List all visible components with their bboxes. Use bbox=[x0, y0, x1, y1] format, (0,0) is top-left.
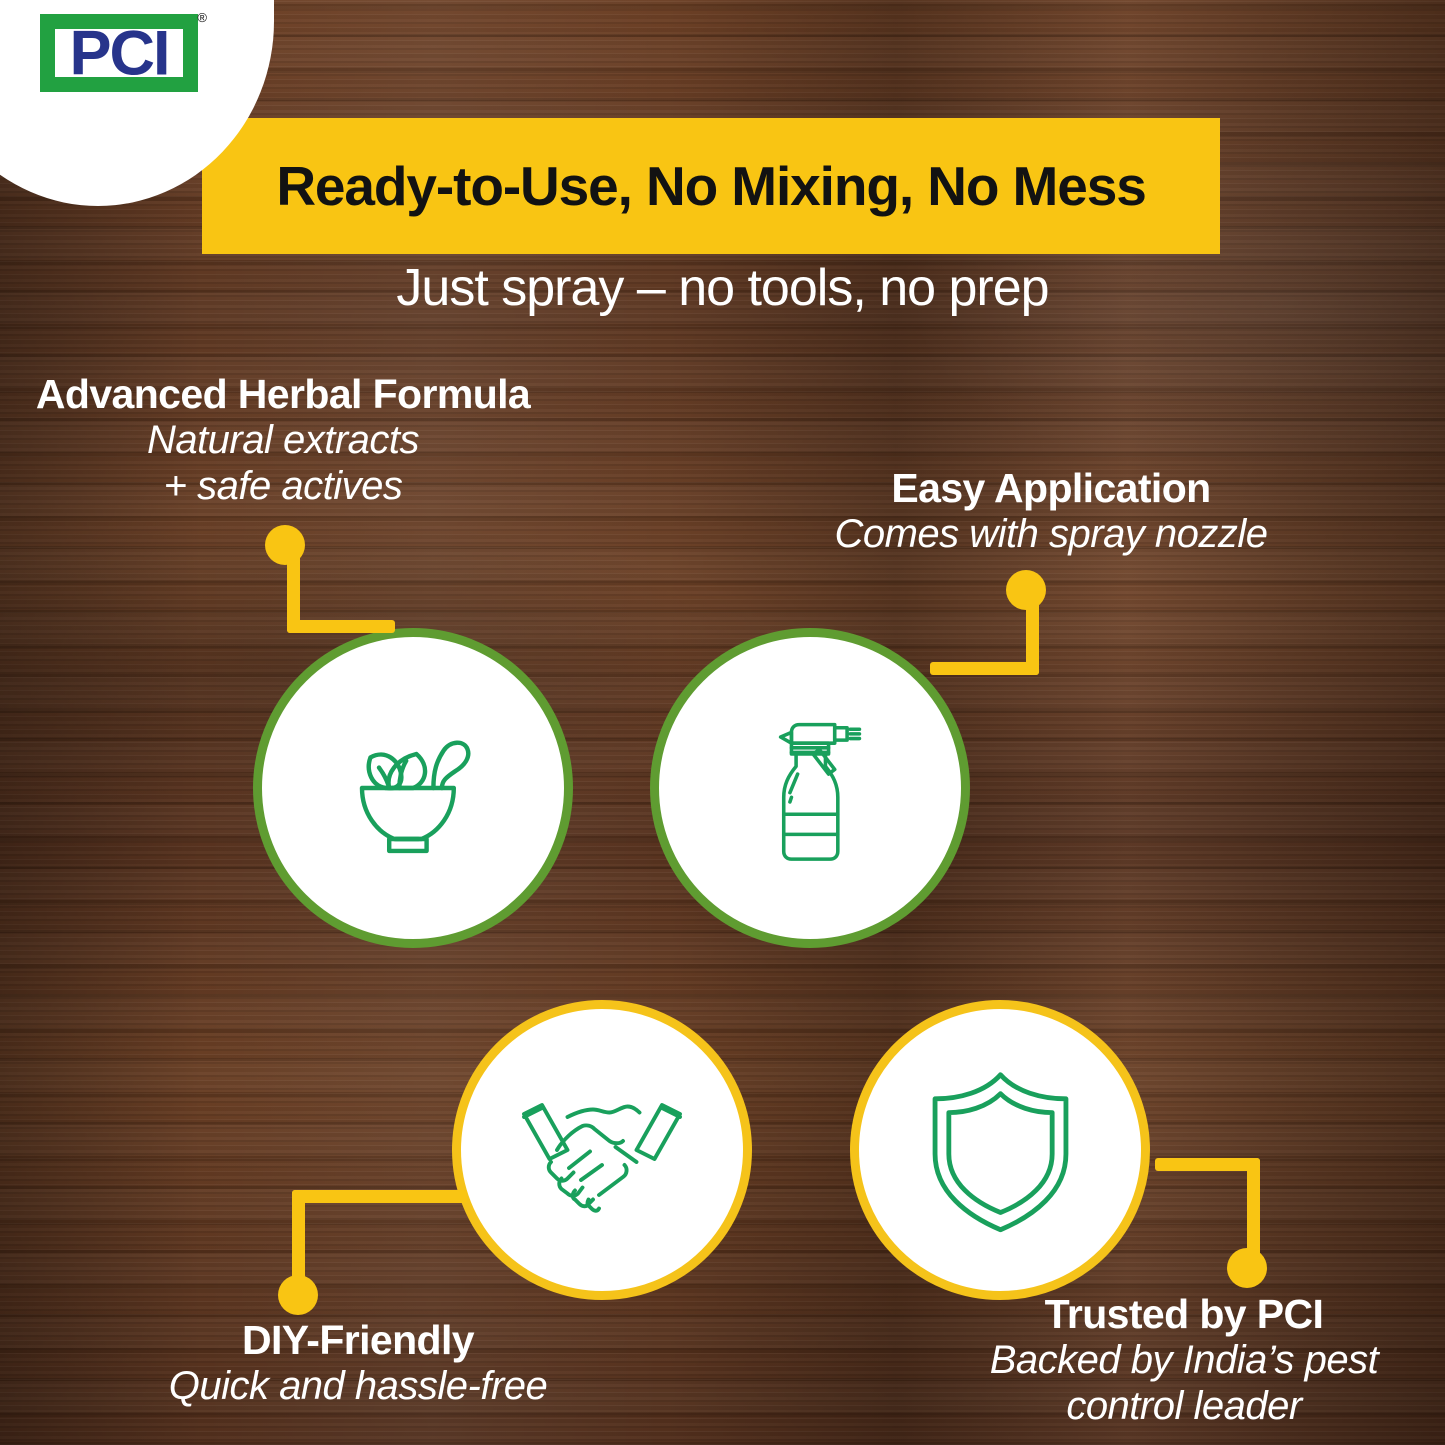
headline-banner: Ready-to-Use, No Mixing, No Mess bbox=[202, 118, 1220, 254]
feature-label-trusted-by-pci: Trusted by PCI Backed by India’s pest co… bbox=[930, 1292, 1438, 1429]
connector-dot-easy-application bbox=[1006, 570, 1046, 610]
handshake-icon bbox=[512, 1085, 692, 1215]
feature-subtitle-line1: Comes with spray nozzle bbox=[790, 512, 1312, 558]
feature-label-diy-friendly: DIY-Friendly Quick and hassle-free bbox=[82, 1318, 634, 1410]
feature-title: Trusted by PCI bbox=[930, 1292, 1438, 1338]
registered-mark-icon: ® bbox=[197, 10, 207, 25]
connector-easy-application bbox=[930, 595, 1065, 685]
feature-circle-easy-application[interactable] bbox=[650, 628, 970, 948]
connector-dot-trusted-by-pci bbox=[1227, 1248, 1267, 1288]
pci-logo: PCI ® bbox=[34, 6, 204, 102]
feature-title: DIY-Friendly bbox=[82, 1318, 634, 1364]
feature-subtitle-line2: + safe actives bbox=[18, 464, 548, 510]
feature-subtitle-line1: Natural extracts bbox=[18, 418, 548, 464]
subheadline-text: Just spray – no tools, no prep bbox=[0, 258, 1445, 318]
connector-dot-advanced-herbal-formula bbox=[265, 525, 305, 565]
feature-title: Easy Application bbox=[790, 466, 1312, 512]
feature-circle-diy-friendly[interactable] bbox=[452, 1000, 752, 1300]
feature-label-easy-application: Easy Application Comes with spray nozzle bbox=[790, 466, 1312, 558]
shield-icon bbox=[923, 1063, 1078, 1238]
headline-text: Ready-to-Use, No Mixing, No Mess bbox=[276, 154, 1145, 218]
feature-subtitle-line1: Quick and hassle-free bbox=[82, 1364, 634, 1410]
connector-diy-friendly bbox=[292, 1190, 472, 1295]
feature-circle-advanced-herbal-formula[interactable] bbox=[253, 628, 573, 948]
mortar-and-pestle-with-leaves-icon bbox=[328, 703, 498, 873]
connector-dot-diy-friendly bbox=[278, 1275, 318, 1315]
logo-wordmark: PCI bbox=[34, 23, 204, 86]
feature-label-advanced-herbal-formula: Advanced Herbal Formula Natural extracts… bbox=[18, 372, 548, 509]
spray-bottle-icon bbox=[730, 703, 890, 873]
poster-canvas: PCI ® Ready-to-Use, No Mixing, No Mess J… bbox=[0, 0, 1445, 1445]
feature-circle-trusted-by-pci[interactable] bbox=[850, 1000, 1150, 1300]
feature-title: Advanced Herbal Formula bbox=[18, 372, 548, 418]
feature-subtitle-line1: Backed by India’s pest bbox=[930, 1338, 1438, 1384]
feature-subtitle-line2: control leader bbox=[930, 1384, 1438, 1430]
